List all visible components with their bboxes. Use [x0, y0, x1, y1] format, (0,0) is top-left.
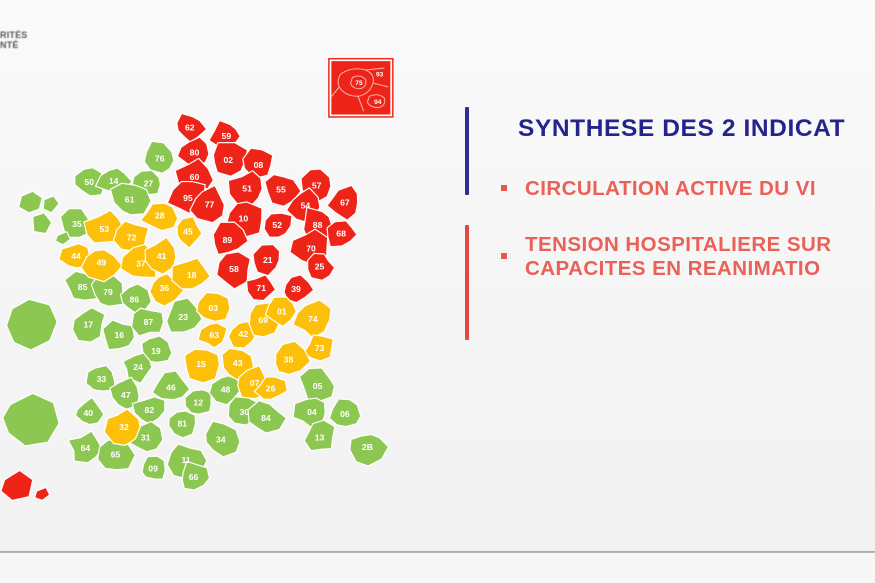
department-label-47: 47 — [121, 390, 131, 400]
department-label-35: 35 — [72, 219, 82, 229]
department-label-17: 17 — [83, 320, 93, 330]
department-label-77: 77 — [205, 199, 215, 209]
department-label-61: 61 — [125, 195, 135, 205]
department-label-60: 60 — [190, 172, 200, 182]
department-label-28: 28 — [155, 211, 165, 221]
bullet-item-tension: TENSION HOSPITALIERE SUR CAPACITES EN RE… — [501, 233, 832, 281]
panel-title: SYNTHESE DES 2 INDICAT — [518, 115, 845, 143]
department-label-79: 79 — [103, 287, 113, 297]
department-label-45: 45 — [183, 227, 193, 237]
map-svg: 6259800208605155579577541052886768892170… — [0, 38, 422, 508]
department-label-30: 30 — [240, 407, 250, 417]
department-label-68: 68 — [336, 229, 346, 239]
department-label-21: 21 — [263, 255, 273, 265]
department-label-04: 04 — [307, 407, 317, 417]
inset-label-75: 75 — [355, 80, 363, 87]
department-label-24: 24 — [133, 362, 143, 372]
department-label-40: 40 — [83, 408, 93, 418]
department-label-73: 73 — [315, 343, 325, 353]
department-label-26: 26 — [266, 384, 276, 394]
inset-label-93: 93 — [376, 72, 384, 79]
bullet-text-circulation: CIRCULATION ACTIVE DU VI — [525, 177, 816, 201]
department-label-05: 05 — [313, 381, 323, 391]
department-label-71: 71 — [256, 283, 266, 293]
department-label-49: 49 — [97, 258, 107, 268]
department-label-12: 12 — [193, 398, 203, 408]
department-label-46: 46 — [166, 383, 176, 393]
department-label-54: 54 — [301, 200, 311, 210]
department-label-14: 14 — [109, 176, 119, 186]
department-label-62: 62 — [185, 122, 195, 132]
department-label-64: 64 — [81, 443, 91, 453]
department-label-55: 55 — [276, 184, 286, 194]
department-label-25: 25 — [315, 261, 325, 271]
department-label-41: 41 — [157, 251, 167, 261]
department-label-74: 74 — [308, 314, 318, 324]
bullet-text-tension: TENSION HOSPITALIERE SUR CAPACITES EN RE… — [525, 233, 832, 281]
department-label-13: 13 — [315, 433, 325, 443]
ile-de-france-inset: 93 75 94 — [329, 59, 393, 117]
department-label-76: 76 — [155, 153, 165, 163]
department-label-36: 36 — [160, 283, 170, 293]
department-label-09: 09 — [148, 464, 158, 474]
department-label-44: 44 — [71, 251, 81, 261]
department-label-50: 50 — [84, 177, 94, 187]
department-label-37: 37 — [136, 259, 146, 269]
department-label-57: 57 — [312, 181, 322, 191]
department-label-10: 10 — [239, 213, 249, 223]
department-label-19: 19 — [151, 346, 161, 356]
department-label-15: 15 — [196, 359, 206, 369]
department-label-01: 01 — [277, 307, 287, 317]
bullet-item-circulation: CIRCULATION ACTIVE DU VI — [501, 177, 816, 201]
bullet-accent-bar — [465, 225, 469, 340]
department-label-2B: 2B — [362, 442, 373, 452]
department-label-87: 87 — [144, 317, 154, 327]
bullet-square-icon — [501, 185, 507, 191]
department-label-86: 86 — [130, 294, 140, 304]
department-label-82: 82 — [145, 405, 155, 415]
department-label-34: 34 — [216, 434, 226, 444]
department-label-18: 18 — [187, 270, 197, 280]
below-slide-area — [0, 553, 875, 583]
department-label-53: 53 — [99, 224, 109, 234]
department-label-81: 81 — [177, 418, 187, 428]
inset-label-94: 94 — [374, 99, 382, 106]
department-label-65: 65 — [111, 449, 121, 459]
department-label-32: 32 — [119, 422, 129, 432]
department-label-48: 48 — [221, 385, 231, 395]
department-label-70: 70 — [306, 244, 316, 254]
department-label-59: 59 — [222, 131, 232, 141]
department-label-38: 38 — [284, 354, 294, 364]
department-label-80: 80 — [190, 148, 200, 158]
department-label-84: 84 — [261, 413, 271, 423]
department-label-02: 02 — [224, 155, 234, 165]
department-shapes: 6259800208605155579577541052886768892170… — [59, 113, 389, 490]
bullet-square-icon — [501, 253, 507, 259]
department-label-39: 39 — [291, 284, 301, 294]
title-accent-bar — [465, 107, 469, 195]
department-label-67: 67 — [340, 198, 350, 208]
department-label-72: 72 — [127, 232, 137, 242]
overseas-territories — [1, 191, 71, 500]
department-label-11: 11 — [181, 455, 190, 465]
department-label-63: 63 — [209, 330, 219, 340]
department-label-03: 03 — [208, 303, 218, 313]
department-label-88: 88 — [313, 220, 323, 230]
department-label-27: 27 — [144, 179, 154, 189]
department-label-06: 06 — [340, 409, 350, 419]
department-label-52: 52 — [272, 220, 282, 230]
department-label-43: 43 — [233, 358, 243, 368]
department-label-07: 07 — [250, 378, 260, 388]
department-label-89: 89 — [223, 235, 233, 245]
department-label-23: 23 — [178, 312, 188, 322]
synthesis-text-panel: SYNTHESE DES 2 INDICAT CIRCULATION ACTIV… — [455, 95, 875, 375]
presentation-slide: RITÉS NTÉ 625980020860515557957754105288… — [0, 0, 875, 551]
department-label-51: 51 — [242, 183, 252, 193]
department-label-16: 16 — [114, 330, 124, 340]
department-label-85: 85 — [78, 282, 88, 292]
department-label-42: 42 — [239, 329, 249, 339]
department-label-66: 66 — [189, 472, 199, 482]
department-label-58: 58 — [229, 264, 239, 274]
france-alert-map: 6259800208605155579577541052886768892170… — [0, 38, 422, 508]
department-label-33: 33 — [97, 374, 107, 384]
department-label-95: 95 — [183, 193, 193, 203]
department-label-31: 31 — [141, 433, 151, 443]
department-label-08: 08 — [254, 160, 264, 170]
department-label-69: 69 — [258, 315, 268, 325]
